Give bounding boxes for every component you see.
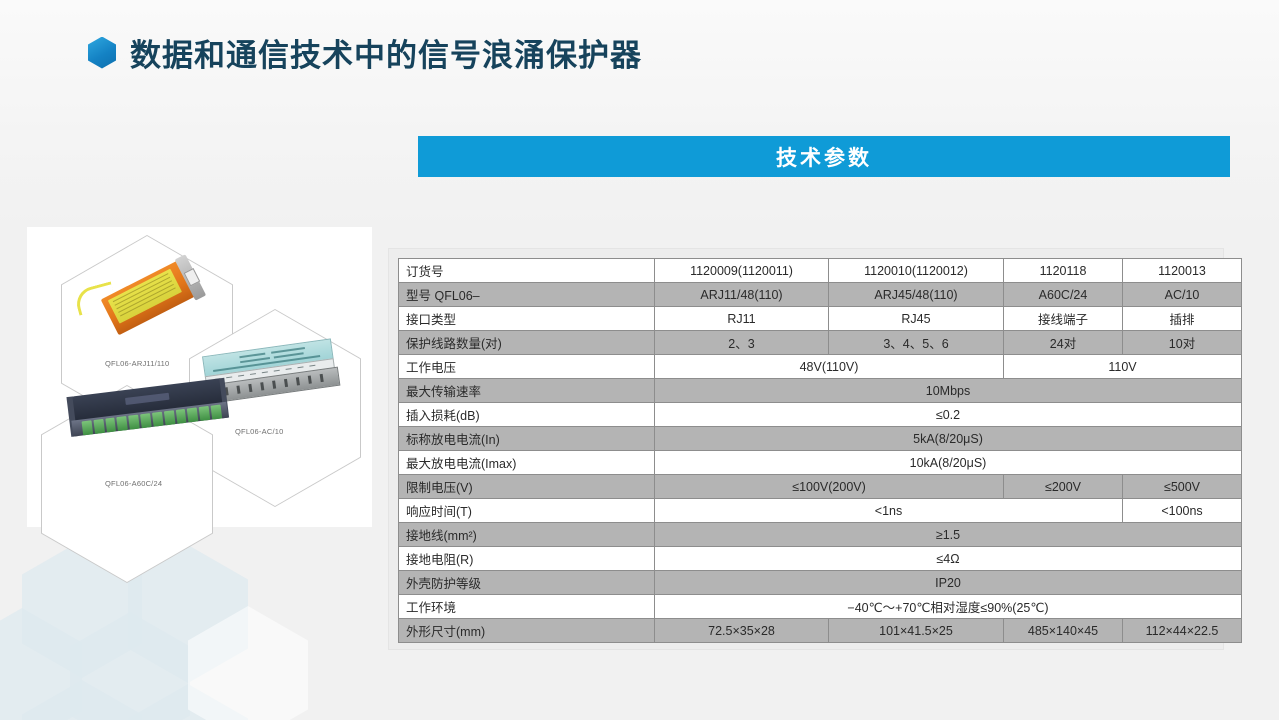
- spec-cell: 110V: [1004, 355, 1242, 379]
- decorative-hexagon: [128, 684, 248, 720]
- spec-row-label: 订货号: [399, 259, 655, 283]
- spec-cell: 101×41.5×25: [829, 619, 1004, 643]
- spec-cell: 5kA(8/20μS): [655, 427, 1242, 451]
- spec-cell: 1120010(1120012): [829, 259, 1004, 283]
- spec-row-label: 接地线(mm²): [399, 523, 655, 547]
- product-gallery: QFL06-ARJ11/110 QFL06-AC/10 QFL06-A60C/2…: [27, 227, 372, 527]
- spec-cell: ARJ45/48(110): [829, 283, 1004, 307]
- table-row: 工作电压48V(110V)110V: [399, 355, 1242, 379]
- table-row: 工作环境−40℃～+70℃相对湿度≤90%(25℃): [399, 595, 1242, 619]
- table-row: 限制电压(V)≤100V(200V)≤200V≤500V: [399, 475, 1242, 499]
- spec-cell: ≤0.2: [655, 403, 1242, 427]
- tech-spec-table-body: 订货号1120009(1120011)1120010(1120012)11201…: [399, 259, 1242, 643]
- table-row: 标称放电电流(In)5kA(8/20μS): [399, 427, 1242, 451]
- spec-cell: 10对: [1123, 331, 1242, 355]
- table-row: 最大传输速率10Mbps: [399, 379, 1242, 403]
- section-banner-label: 技术参数: [776, 142, 872, 172]
- spec-cell: ≤500V: [1123, 475, 1242, 499]
- section-banner: 技术参数: [418, 136, 1230, 177]
- tech-spec-table: 订货号1120009(1120011)1120010(1120012)11201…: [398, 258, 1242, 643]
- decorative-hexagon: [0, 608, 82, 720]
- page-title-text: 数据和通信技术中的信号浪涌保护器: [130, 30, 642, 75]
- spec-row-label: 最大传输速率: [399, 379, 655, 403]
- spec-cell: 3、4、5、6: [829, 331, 1004, 355]
- spec-row-label: 限制电压(V): [399, 475, 655, 499]
- spec-cell: 插排: [1123, 307, 1242, 331]
- decorative-hexagon: [188, 606, 308, 720]
- spec-cell: 112×44×22.5: [1123, 619, 1242, 643]
- spec-row-label: 接地电阻(R): [399, 547, 655, 571]
- spec-cell: ≤100V(200V): [655, 475, 1004, 499]
- table-row: 插入损耗(dB)≤0.2: [399, 403, 1242, 427]
- hexagon-bullet-icon: [88, 37, 116, 69]
- spec-cell: 48V(110V): [655, 355, 1004, 379]
- spec-cell: ≤4Ω: [655, 547, 1242, 571]
- spec-row-label: 接口类型: [399, 307, 655, 331]
- spec-row-label: 工作环境: [399, 595, 655, 619]
- product-label-0: QFL06-ARJ11/110: [105, 359, 169, 368]
- decorative-hexagon: [70, 612, 190, 720]
- spec-row-label: 保护线路数量(对): [399, 331, 655, 355]
- spec-row-label: 外壳防护等级: [399, 571, 655, 595]
- spec-row-label: 响应时间(T): [399, 499, 655, 523]
- spec-cell: −40℃～+70℃相对湿度≤90%(25℃): [655, 595, 1242, 619]
- spec-row-label: 最大放电电流(Imax): [399, 451, 655, 475]
- spec-cell: <1ns: [655, 499, 1123, 523]
- spec-row-label: 插入损耗(dB): [399, 403, 655, 427]
- page-title: 数据和通信技术中的信号浪涌保护器: [88, 30, 642, 75]
- spec-cell: IP20: [655, 571, 1242, 595]
- spec-cell: 2、3: [655, 331, 829, 355]
- table-row: 接地电阻(R)≤4Ω: [399, 547, 1242, 571]
- table-row: 型号 QFL06–ARJ11/48(110)ARJ45/48(110)A60C/…: [399, 283, 1242, 307]
- spec-cell: RJ11: [655, 307, 829, 331]
- spec-cell: 1120013: [1123, 259, 1242, 283]
- spec-row-label: 外形尺寸(mm): [399, 619, 655, 643]
- spec-cell: ≤200V: [1004, 475, 1123, 499]
- table-row: 订货号1120009(1120011)1120010(1120012)11201…: [399, 259, 1242, 283]
- table-row: 外壳防护等级IP20: [399, 571, 1242, 595]
- table-row: 接口类型RJ11RJ45接线端子插排: [399, 307, 1242, 331]
- spec-cell: 24对: [1004, 331, 1123, 355]
- table-row: 外形尺寸(mm)72.5×35×28101×41.5×25485×140×451…: [399, 619, 1242, 643]
- spec-row-label: 型号 QFL06–: [399, 283, 655, 307]
- spec-cell: 10Mbps: [655, 379, 1242, 403]
- spec-cell: ARJ11/48(110): [655, 283, 829, 307]
- product-label-1: QFL06-AC/10: [235, 427, 283, 436]
- spec-cell: 接线端子: [1004, 307, 1123, 331]
- spec-row-label: 标称放电电流(In): [399, 427, 655, 451]
- spec-cell: ≥1.5: [655, 523, 1242, 547]
- product-label-2: QFL06-A60C/24: [105, 479, 162, 488]
- spec-cell: RJ45: [829, 307, 1004, 331]
- spec-cell: 1120118: [1004, 259, 1123, 283]
- spec-cell: AC/10: [1123, 283, 1242, 307]
- table-row: 保护线路数量(对)2、33、4、5、624对10对: [399, 331, 1242, 355]
- decorative-hexagon: [22, 680, 142, 720]
- spec-cell: 10kA(8/20μS): [655, 451, 1242, 475]
- table-row: 接地线(mm²)≥1.5: [399, 523, 1242, 547]
- spec-cell: 1120009(1120011): [655, 259, 829, 283]
- spec-cell: 72.5×35×28: [655, 619, 829, 643]
- spec-cell: 485×140×45: [1004, 619, 1123, 643]
- table-row: 响应时间(T)<1ns<100ns: [399, 499, 1242, 523]
- spec-cell: <100ns: [1123, 499, 1242, 523]
- spec-cell: A60C/24: [1004, 283, 1123, 307]
- tech-spec-table-frame: 订货号1120009(1120011)1120010(1120012)11201…: [388, 248, 1224, 650]
- table-row: 最大放电电流(Imax)10kA(8/20μS): [399, 451, 1242, 475]
- spec-row-label: 工作电压: [399, 355, 655, 379]
